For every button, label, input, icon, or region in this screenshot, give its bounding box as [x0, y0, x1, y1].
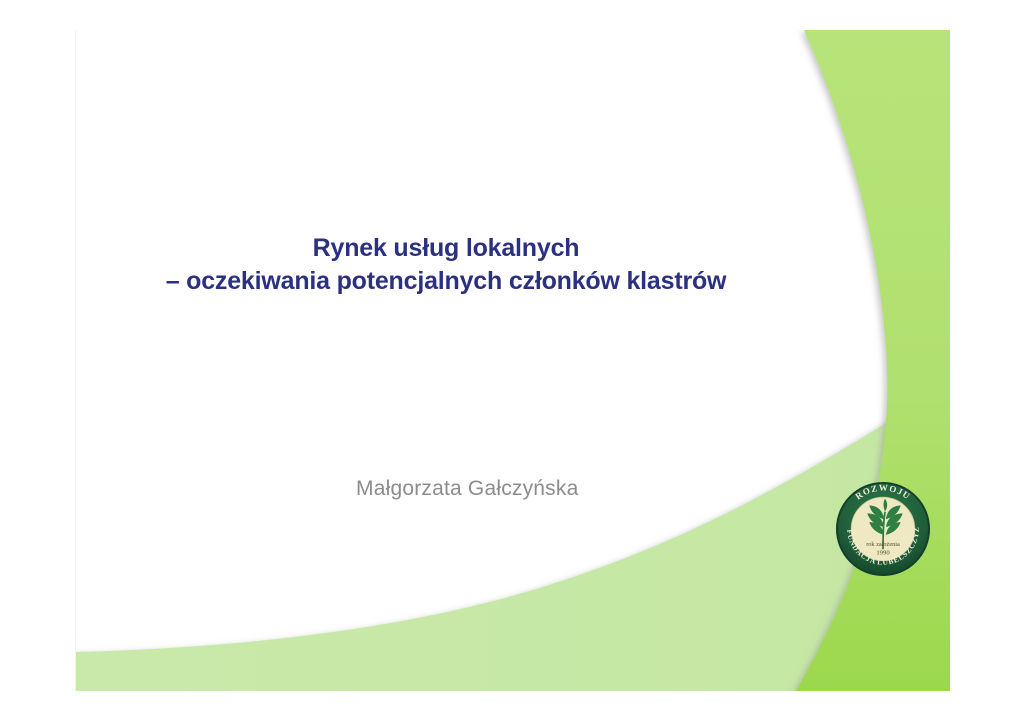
logo-center-text-line2: 1990: [876, 549, 890, 556]
pale-green-band: [76, 382, 950, 691]
slide-sheet: Rynek usług lokalnych – oczekiwania pote…: [75, 30, 950, 691]
background-decoration: [76, 30, 950, 691]
logo-icon: ROZWOJU FUNDACJA LUBELSZCZYZNY: [834, 480, 932, 578]
author-name: Małgorzata Gałczyńska: [356, 477, 578, 501]
title-line-1: Rynek usług lokalnych: [76, 232, 816, 265]
slide-title: Rynek usług lokalnych – oczekiwania pote…: [76, 232, 816, 297]
slide-canvas: Rynek usług lokalnych – oczekiwania pote…: [0, 0, 1024, 724]
fundacja-rozwoju-lubelszczyzny-logo: ROZWOJU FUNDACJA LUBELSZCZYZNY: [834, 480, 932, 578]
title-line-2: – oczekiwania potencjalnych członków kla…: [76, 265, 816, 298]
logo-center-text-line1: rok założenia: [866, 541, 900, 548]
